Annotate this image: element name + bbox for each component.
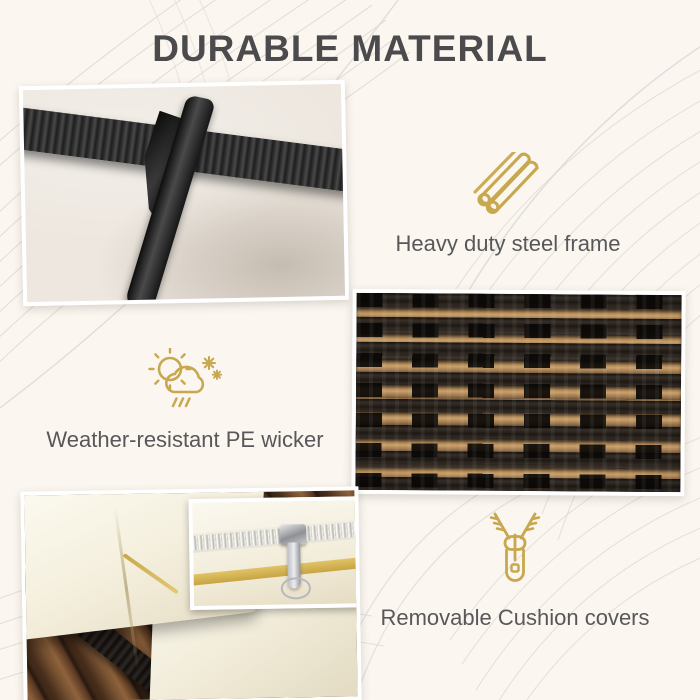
steel-frame-photo — [19, 80, 349, 306]
infographic-canvas: DURABLE MATERIAL — [0, 0, 700, 700]
cushion-photo — [20, 486, 361, 700]
feature-steel-frame: Heavy duty steel frame — [358, 152, 658, 257]
photo-vignette — [355, 293, 681, 492]
cushion-fabric — [192, 501, 357, 607]
feature-label: Heavy duty steel frame — [396, 231, 621, 256]
weather-sun-cloud-rain-snow-icon — [32, 348, 338, 415]
feature-label: Removable Cushion covers — [380, 605, 649, 630]
feature-cushion-covers: Removable Cushion covers — [362, 508, 668, 631]
zipper-icon — [362, 508, 668, 593]
wicker-photo — [351, 289, 685, 496]
zipper-detail-inset — [188, 496, 358, 610]
steel-tubes-icon — [358, 152, 658, 219]
page-title: DURABLE MATERIAL — [0, 28, 700, 70]
feature-pe-wicker: Weather-resistant PE wicker — [32, 348, 338, 453]
feature-label: Weather-resistant PE wicker — [46, 427, 323, 452]
